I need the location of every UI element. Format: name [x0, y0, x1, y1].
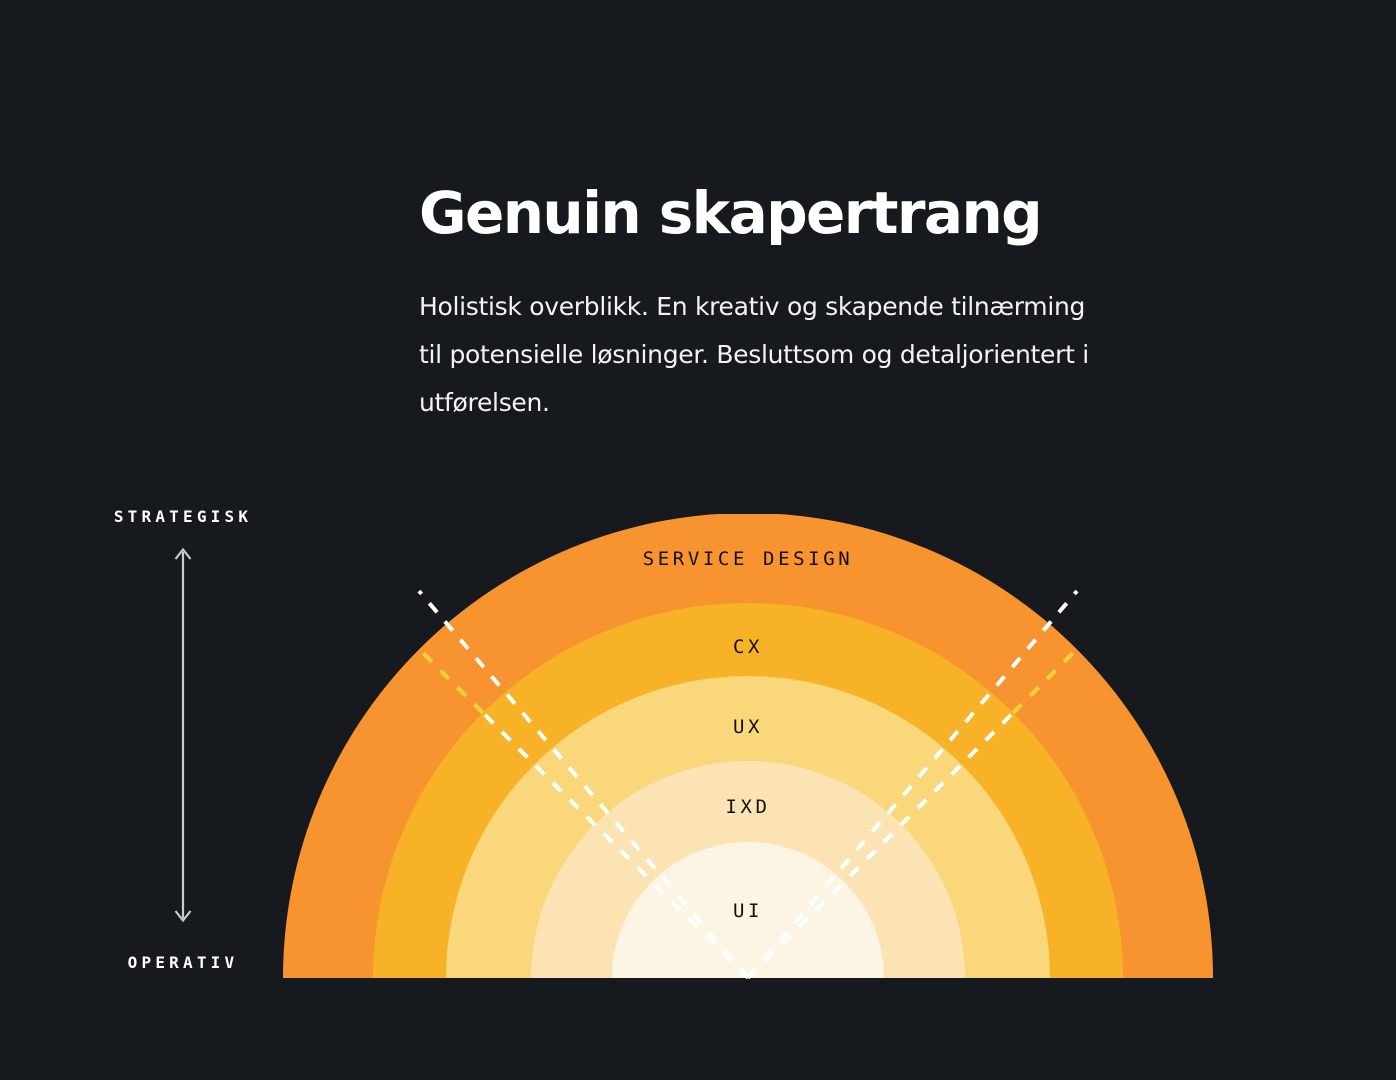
page-subtitle: Holistisk overblikk. En kreativ og skape…	[419, 283, 1089, 427]
axis-label-strategic: STRATEGISK	[114, 507, 252, 526]
slide-canvas: Genuin skapertrang Holistisk overblikk. …	[0, 0, 1396, 1080]
header-block: Genuin skapertrang Holistisk overblikk. …	[419, 182, 1119, 427]
semicircle-rings-svg	[283, 514, 1213, 980]
axis-double-arrow-icon	[158, 540, 208, 930]
axis-label-operational: OPERATIV	[128, 953, 239, 972]
page-title: Genuin skapertrang	[419, 182, 1119, 245]
nested-semicircle-diagram: SERVICE DESIGN CX UX IXD UI	[283, 514, 1213, 980]
ring-group	[283, 514, 1213, 980]
